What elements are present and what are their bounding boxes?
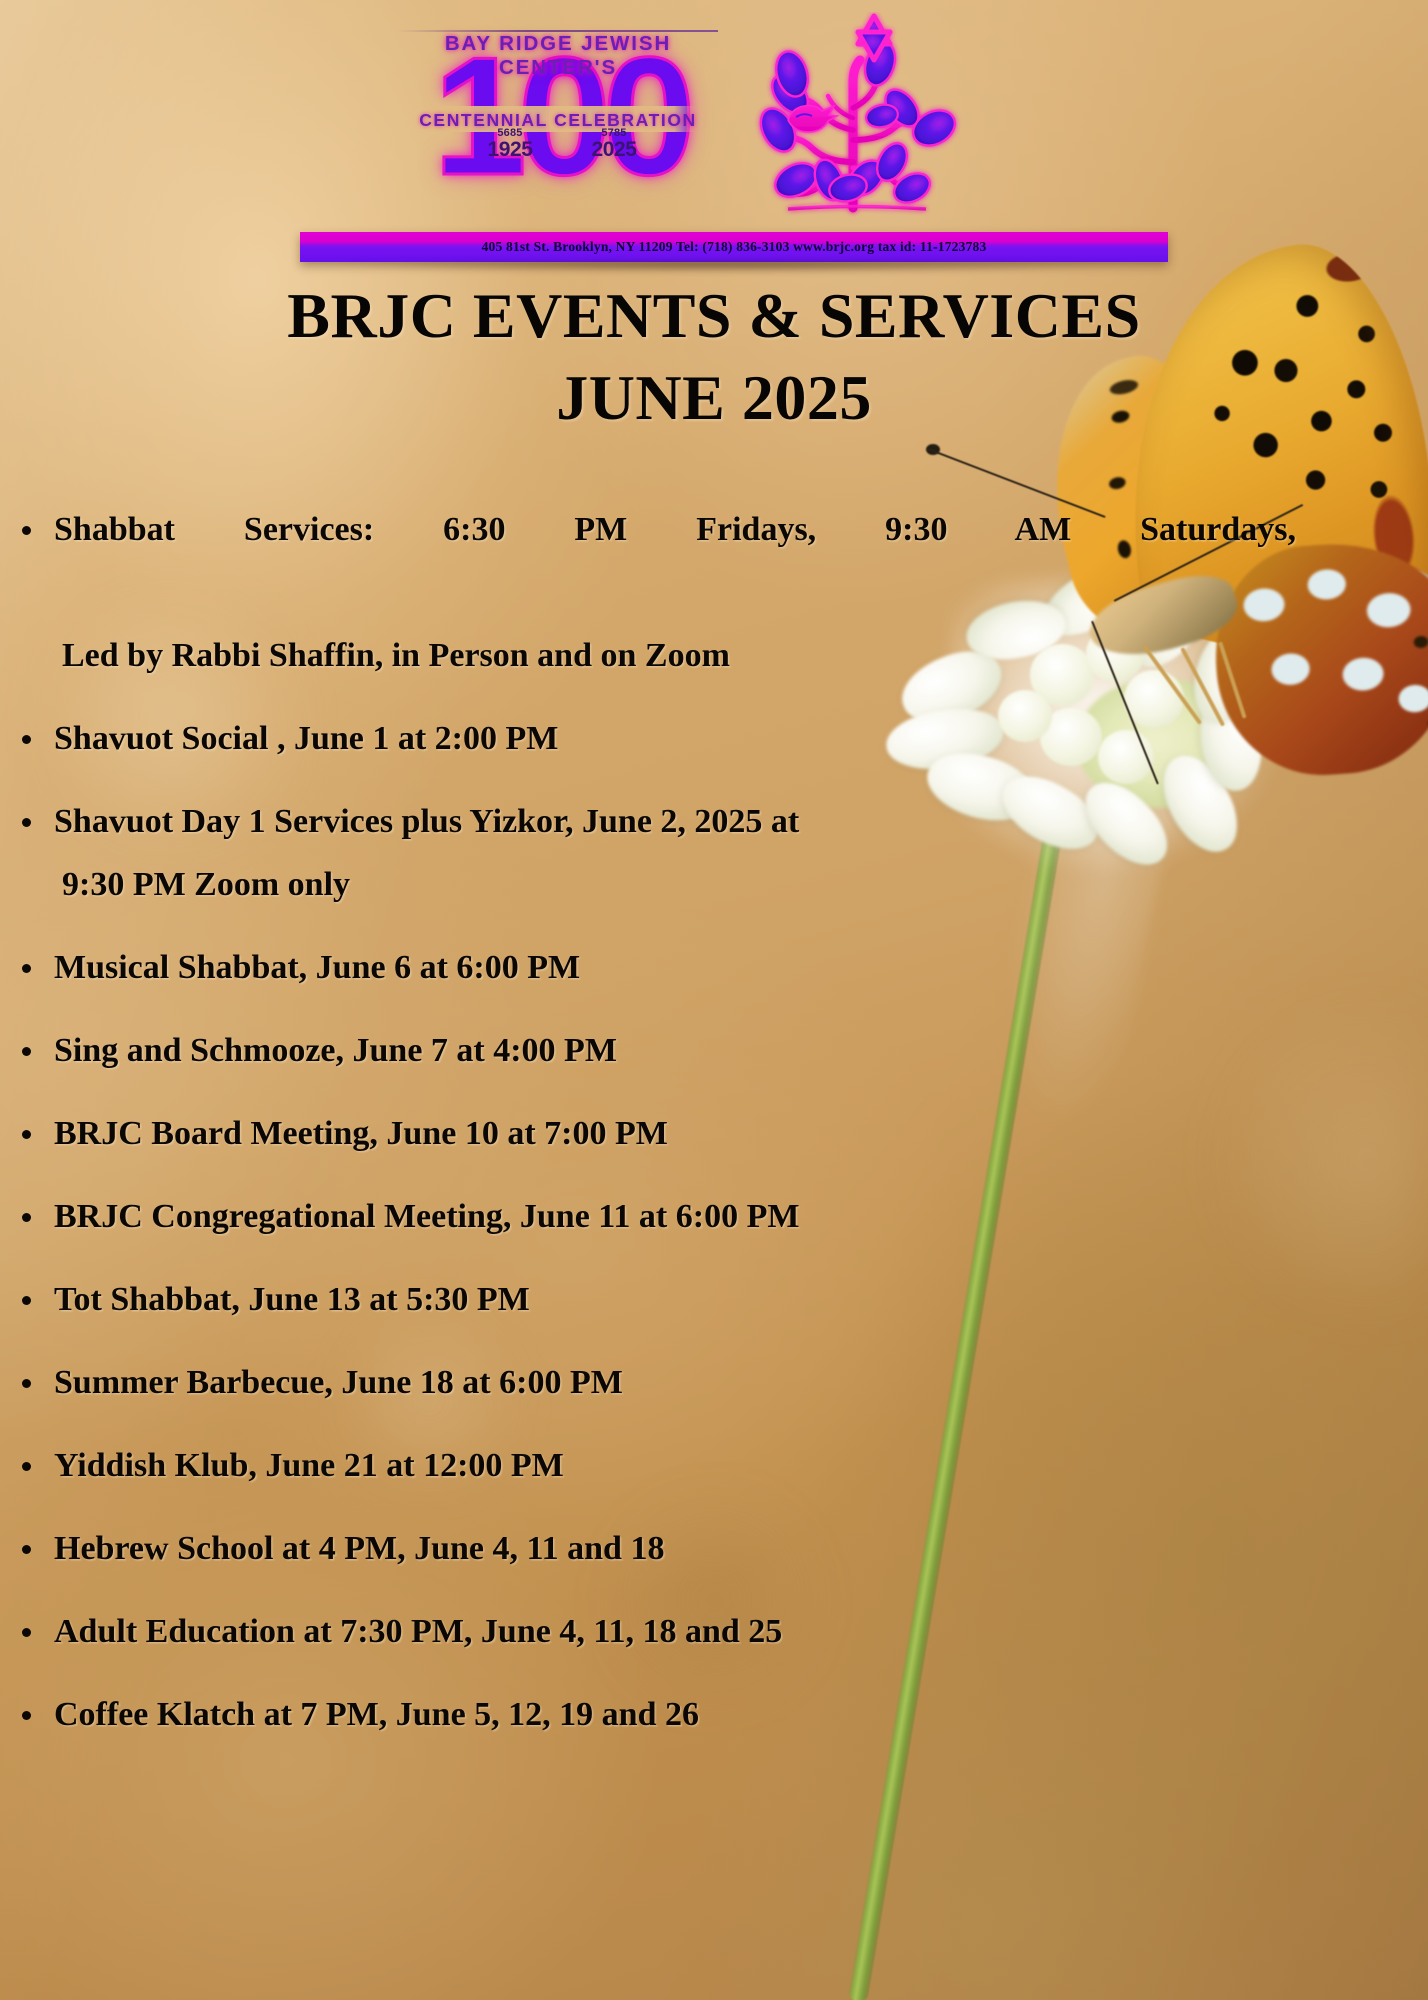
events-list: Shabbat Services: 6:30 PM Fridays, 9:30 … [0, 498, 1300, 1766]
event-line-1: Adult Education at 7:30 PM, June 4, 11, … [54, 1613, 782, 1650]
address-banner: 405 81st St. Brooklyn, NY 11209 Tel: (71… [300, 232, 1168, 262]
logo-year-end: 5785 2025 [564, 128, 664, 160]
list-item: Shavuot Day 1 Services plus Yizkor, June… [0, 790, 1300, 916]
centennial-logo: 100 BAY RIDGE JEWISH CENTER'S CENTENNIAL… [0, 6, 1428, 266]
event-line-1: Sing and Schmooze, June 7 at 4:00 PM [54, 1032, 617, 1069]
event-line-2: 9:30 PM Zoom only [62, 853, 1300, 916]
list-item: Coffee Klatch at 7 PM, June 5, 12, 19 an… [0, 1683, 1300, 1746]
list-item: Tot Shabbat, June 13 at 5:30 PM [0, 1268, 1300, 1331]
bird-icon [788, 106, 837, 132]
list-item: BRJC Congregational Meeting, June 11 at … [0, 1185, 1300, 1248]
list-item: BRJC Board Meeting, June 10 at 7:00 PM [0, 1102, 1300, 1165]
flyer-page: 100 BAY RIDGE JEWISH CENTER'S CENTENNIAL… [0, 0, 1428, 2000]
page-title-line1: BRJC EVENTS & SERVICES [0, 276, 1428, 356]
tree-of-life-icon [730, 12, 990, 222]
logo-year-start-gregorian: 1925 [460, 139, 560, 160]
list-item: Shabbat Services: 6:30 PM Fridays, 9:30 … [0, 498, 1300, 687]
logo-inner: 100 BAY RIDGE JEWISH CENTER'S CENTENNIAL… [398, 6, 1058, 246]
page-title: BRJC EVENTS & SERVICES JUNE 2025 [0, 276, 1428, 440]
logo-year-start: 5685 1925 [460, 128, 560, 160]
logo-year-end-gregorian: 2025 [564, 139, 664, 160]
list-item: Adult Education at 7:30 PM, June 4, 11, … [0, 1600, 1300, 1663]
address-banner-shadow [340, 262, 1130, 273]
address-banner-text: 405 81st St. Brooklyn, NY 11209 Tel: (71… [300, 232, 1168, 262]
list-item: Yiddish Klub, June 21 at 12:00 PM [0, 1434, 1300, 1497]
list-item: Shavuot Social , June 1 at 2:00 PM [0, 707, 1300, 770]
event-line-2: Led by Rabbi Shaffin, in Person and on Z… [62, 624, 1296, 687]
event-line-1: Shavuot Social , June 1 at 2:00 PM [54, 720, 558, 757]
event-line-1: Hebrew School at 4 PM, June 4, 11 and 18 [54, 1530, 664, 1567]
list-item: Hebrew School at 4 PM, June 4, 11 and 18 [0, 1517, 1300, 1580]
list-item: Musical Shabbat, June 6 at 6:00 PM [0, 936, 1300, 999]
event-line-1: BRJC Board Meeting, June 10 at 7:00 PM [54, 1115, 668, 1152]
page-title-line2: JUNE 2025 [0, 356, 1428, 440]
event-line-1: Shavuot Day 1 Services plus Yizkor, June… [54, 803, 799, 840]
event-line-1: Coffee Klatch at 7 PM, June 5, 12, 19 an… [54, 1696, 699, 1733]
event-line-1: Musical Shabbat, June 6 at 6:00 PM [54, 949, 580, 986]
event-line-1: Shabbat Services: 6:30 PM Fridays, 9:30 … [54, 498, 1296, 624]
list-item: Sing and Schmooze, June 7 at 4:00 PM [0, 1019, 1300, 1082]
logo-org-line: BAY RIDGE JEWISH CENTER'S [398, 32, 718, 80]
list-item: Summer Barbecue, June 18 at 6:00 PM [0, 1351, 1300, 1414]
event-line-1: Summer Barbecue, June 18 at 6:00 PM [54, 1364, 623, 1401]
event-line-1: BRJC Congregational Meeting, June 11 at … [54, 1198, 799, 1235]
event-line-1: Yiddish Klub, June 21 at 12:00 PM [54, 1447, 564, 1484]
event-line-1: Tot Shabbat, June 13 at 5:30 PM [54, 1281, 530, 1318]
